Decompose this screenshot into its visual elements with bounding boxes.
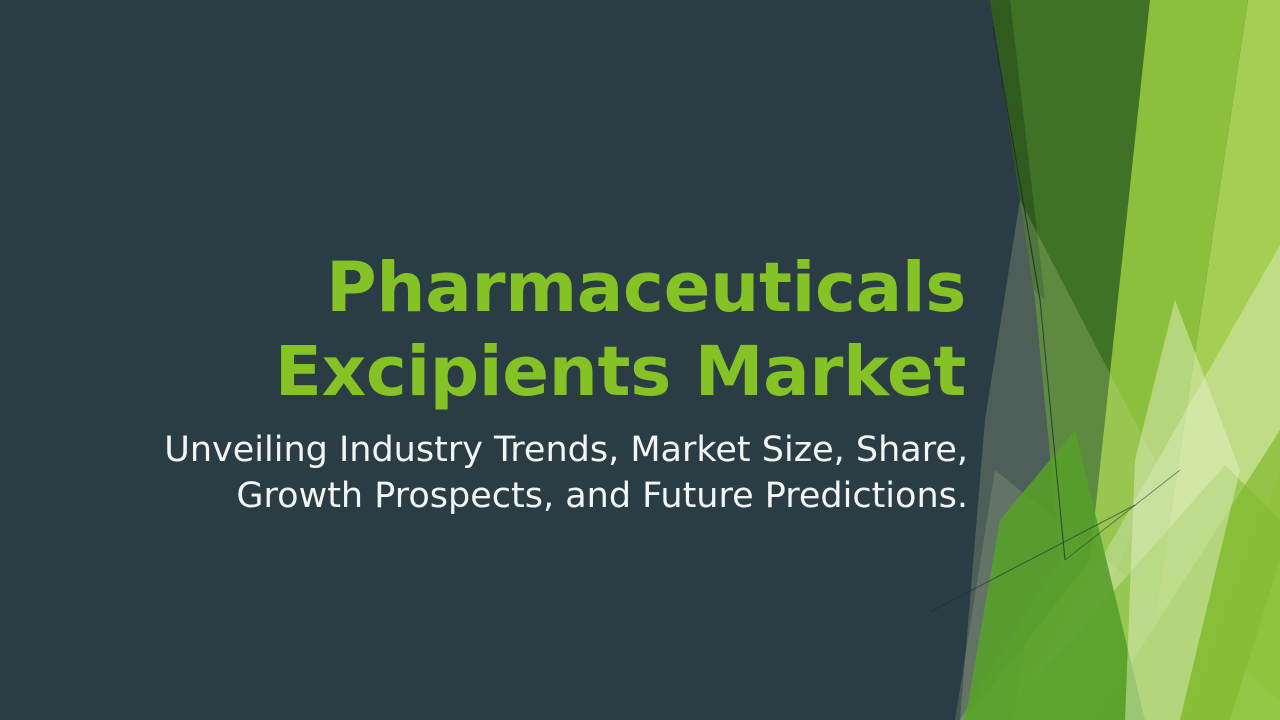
slide-subtitle: Unveiling Industry Trends, Market Size, … [120, 428, 968, 520]
subtitle-container: Unveiling Industry Trends, Market Size, … [120, 428, 968, 520]
title-container: Pharmaceuticals Excipients Market [100, 246, 966, 414]
slide-text-layer: Pharmaceuticals Excipients Market Unveil… [0, 0, 1280, 720]
page-title: Pharmaceuticals Excipients Market [100, 246, 966, 414]
title-slide: Pharmaceuticals Excipients Market Unveil… [0, 0, 1280, 720]
